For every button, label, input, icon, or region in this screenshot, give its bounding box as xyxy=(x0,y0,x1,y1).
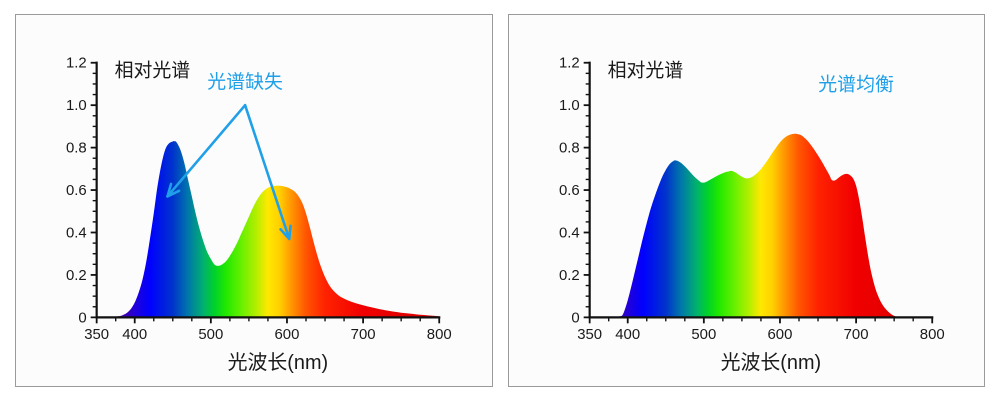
y-tick-label: 0.4 xyxy=(66,224,87,241)
x-tick-label: 500 xyxy=(198,326,223,343)
spectrum-area-fill xyxy=(97,141,440,317)
x-tick-label: 600 xyxy=(275,326,300,343)
x-tick-label: 800 xyxy=(920,326,945,343)
y-tick-label: 0.2 xyxy=(66,267,87,284)
x-tick-label: 700 xyxy=(351,326,376,343)
x-axis-title: 光波长(nm) xyxy=(721,351,822,374)
x-tick-labels: 350400500600700800 xyxy=(577,326,944,343)
y-tick-label: 1.0 xyxy=(559,97,580,114)
plot-title: 相对光谱 xyxy=(608,60,684,82)
x-tick-label: 350 xyxy=(577,326,602,343)
panel-deficient-spectrum: 350400500600700800 00.20.40.60.81.01.2 相… xyxy=(15,14,493,387)
y-tick-label: 0.4 xyxy=(559,224,580,241)
chart-balanced-spectrum: 350400500600700800 00.20.40.60.81.01.2 相… xyxy=(509,15,984,386)
figure-root: 350400500600700800 00.20.40.60.81.01.2 相… xyxy=(0,0,1000,401)
annotation-label: 光谱均衡 xyxy=(818,73,894,95)
y-tick-labels: 00.20.40.60.81.01.2 xyxy=(66,55,87,327)
y-tick-label: 1.0 xyxy=(66,97,87,114)
annotation-label: 光谱缺失 xyxy=(207,71,283,93)
plot-title: 相对光谱 xyxy=(115,60,191,82)
annotation-group: 光谱均衡 xyxy=(818,73,894,95)
x-tick-labels: 350400500600700800 xyxy=(84,326,451,343)
y-tick-label: 0.8 xyxy=(66,140,87,157)
x-tick-label: 600 xyxy=(768,326,793,343)
x-tick-label: 400 xyxy=(615,326,640,343)
x-tick-label: 500 xyxy=(691,326,716,343)
x-tick-label: 700 xyxy=(844,326,869,343)
y-tick-label: 0.8 xyxy=(559,140,580,157)
x-tick-label: 800 xyxy=(427,326,452,343)
x-tick-label: 350 xyxy=(84,326,109,343)
y-tick-label: 0.6 xyxy=(559,182,580,199)
y-tick-label: 0.6 xyxy=(66,182,87,199)
y-tick-label: 1.2 xyxy=(66,55,87,72)
y-tick-label: 0 xyxy=(78,309,86,326)
y-tick-label: 0.2 xyxy=(559,267,580,284)
x-axis-title: 光波长(nm) xyxy=(228,351,329,374)
y-tick-labels: 00.20.40.60.81.01.2 xyxy=(559,55,580,327)
y-tick-label: 1.2 xyxy=(559,55,580,72)
y-tick-label: 0 xyxy=(571,309,579,326)
x-tick-label: 400 xyxy=(122,326,147,343)
panel-balanced-spectrum: 350400500600700800 00.20.40.60.81.01.2 相… xyxy=(508,14,985,387)
spectrum-area-fill xyxy=(590,134,933,318)
chart-deficient-spectrum: 350400500600700800 00.20.40.60.81.01.2 相… xyxy=(16,15,492,386)
